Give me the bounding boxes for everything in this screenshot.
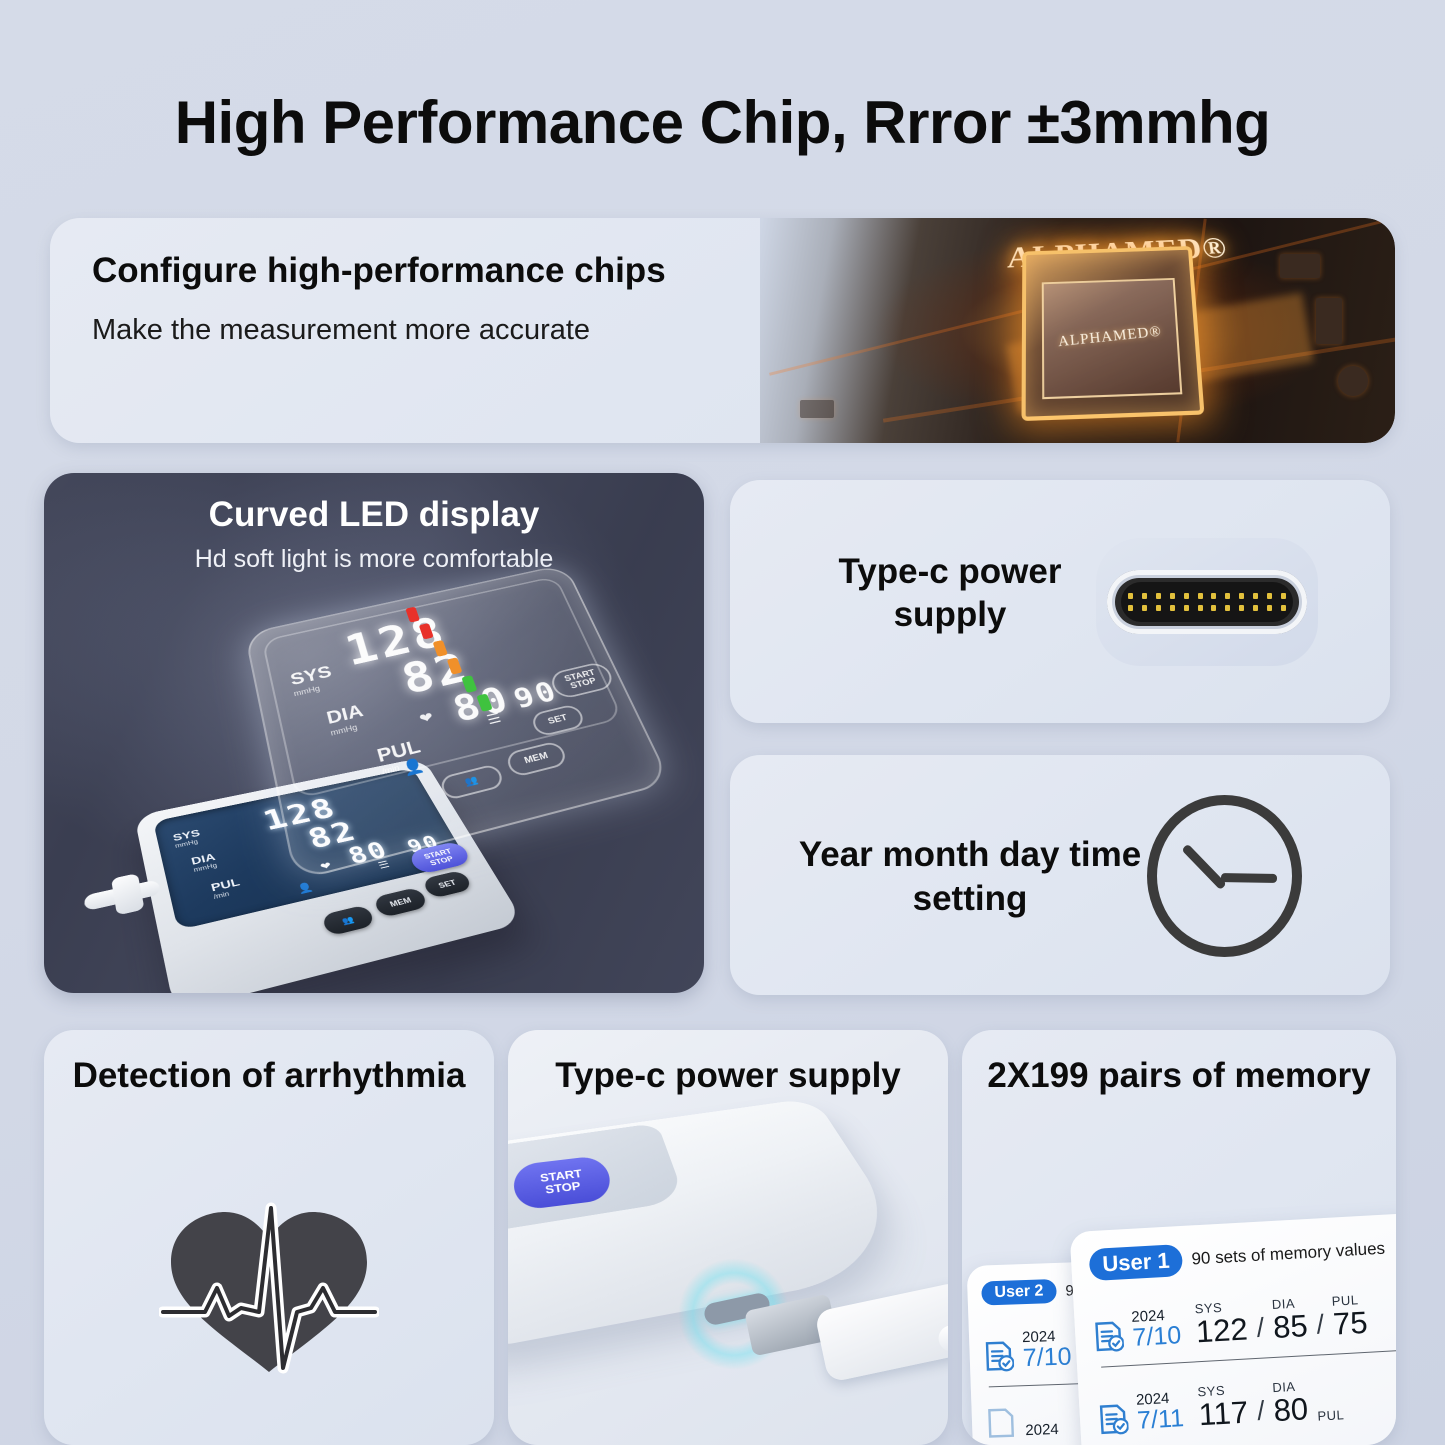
device-sys-label: SYS mmHg bbox=[172, 827, 203, 849]
memory-record-icon bbox=[1093, 1319, 1125, 1353]
card-arrhythmia-detection: Detection of arrhythmia bbox=[44, 1030, 494, 1445]
chip-photo: ALPHAMED® ALPHAMED® bbox=[760, 218, 1395, 443]
page-title: High Performance Chip, Rrror ±3mmhg bbox=[0, 88, 1445, 157]
user1-row-1-sys: 122 bbox=[1195, 1313, 1248, 1347]
chip-body: ALPHAMED® bbox=[1021, 246, 1204, 421]
device-dia-label: DIA mmHg bbox=[190, 851, 219, 874]
user1-pul-column-label-2: PUL bbox=[1317, 1407, 1345, 1423]
led-card-title: Curved LED display bbox=[44, 495, 704, 535]
user1-row-2-sys: 117 bbox=[1198, 1397, 1249, 1431]
chip-card-subtitle: Make the measurement more accurate bbox=[92, 314, 752, 347]
user1-row-2: 2024 7/11 SYS 117 / DIA 80 PUL bbox=[1096, 1372, 1396, 1436]
usb-c-port-icon bbox=[1096, 538, 1318, 666]
clock-hour-hand bbox=[1181, 844, 1226, 891]
clock-minute-hand bbox=[1221, 873, 1277, 883]
time-setting-title: Year month day time setting bbox=[775, 833, 1165, 921]
memory-record-icon bbox=[983, 1340, 1014, 1373]
clock-icon bbox=[1147, 795, 1302, 957]
memory-record-icon bbox=[986, 1407, 1017, 1440]
user1-row-1-pul: 75 bbox=[1332, 1307, 1368, 1340]
heart-ecg-svg bbox=[159, 1200, 379, 1380]
value-separator: / bbox=[1316, 1309, 1325, 1340]
user1-row-1: 2024 7/10 SYS 122 / DIA 85 / PUL bbox=[1092, 1289, 1396, 1353]
user1-row-1-date: 7/10 bbox=[1132, 1322, 1182, 1351]
usb-c-pin-row-bottom bbox=[1128, 605, 1286, 611]
memory-record-icon bbox=[1097, 1402, 1129, 1436]
card-time-setting: Year month day time setting bbox=[730, 755, 1390, 995]
card-curved-led-display: Curved LED display Hd soft light is more… bbox=[44, 473, 704, 993]
memory-card-user1: User 1 90 sets of memory values 2024 7/1… bbox=[1070, 1212, 1396, 1445]
infographic-page: High Performance Chip, Rrror ±3mmhg Conf… bbox=[0, 0, 1445, 1445]
user1-row-2-date: 7/11 bbox=[1136, 1405, 1184, 1434]
card-memory-pairs: 2X199 pairs of memory User 2 90 s 2024 bbox=[962, 1030, 1396, 1445]
typec-top-title: Type-c power supply bbox=[785, 550, 1115, 637]
user2-row-2-year: 2024 bbox=[1025, 1422, 1059, 1438]
chip-brand-inner-label: ALPHAMED® bbox=[1058, 323, 1163, 350]
value-separator: / bbox=[1256, 1396, 1265, 1427]
user1-header: User 1 90 sets of memory values bbox=[1089, 1231, 1396, 1281]
memory-title: 2X199 pairs of memory bbox=[962, 1054, 1396, 1098]
user2-row-1-date: 7/10 bbox=[1022, 1343, 1072, 1371]
usb-c-plug-body bbox=[814, 1281, 948, 1383]
user1-sets-text: 90 sets of memory values bbox=[1191, 1239, 1386, 1270]
user2-badge: User 2 bbox=[981, 1279, 1057, 1306]
typec-bottom-title: Type-c power supply bbox=[508, 1054, 948, 1098]
chip-card-text: Configure high-performance chips Make th… bbox=[92, 248, 752, 347]
chip-die: ALPHAMED® bbox=[1042, 278, 1183, 399]
chip-card-title: Configure high-performance chips bbox=[92, 248, 752, 294]
card-typec-power-supply-bottom: Type-c power supply START STOP bbox=[508, 1030, 948, 1445]
led-card-subtitle: Hd soft light is more comfortable bbox=[44, 545, 704, 574]
value-separator: / bbox=[1256, 1313, 1265, 1344]
device-user-icon: 👤 bbox=[296, 881, 315, 895]
usb-c-pin-row-top bbox=[1128, 593, 1286, 599]
arrhythmia-title: Detection of arrhythmia bbox=[44, 1054, 494, 1098]
user1-row-2-dia: 80 bbox=[1273, 1393, 1309, 1426]
heart-ecg-icon bbox=[44, 1200, 494, 1385]
user1-row-1-dia: 85 bbox=[1272, 1310, 1308, 1343]
usb-c-port-cavity bbox=[1121, 582, 1293, 622]
card-high-performance-chip: Configure high-performance chips Make th… bbox=[50, 218, 1395, 443]
device-pul-label: PUL /min bbox=[209, 875, 243, 900]
usb-c-port-shell bbox=[1107, 570, 1307, 634]
card-typec-power-supply-top: Type-c power supply bbox=[730, 480, 1390, 723]
user1-badge: User 1 bbox=[1089, 1244, 1184, 1281]
